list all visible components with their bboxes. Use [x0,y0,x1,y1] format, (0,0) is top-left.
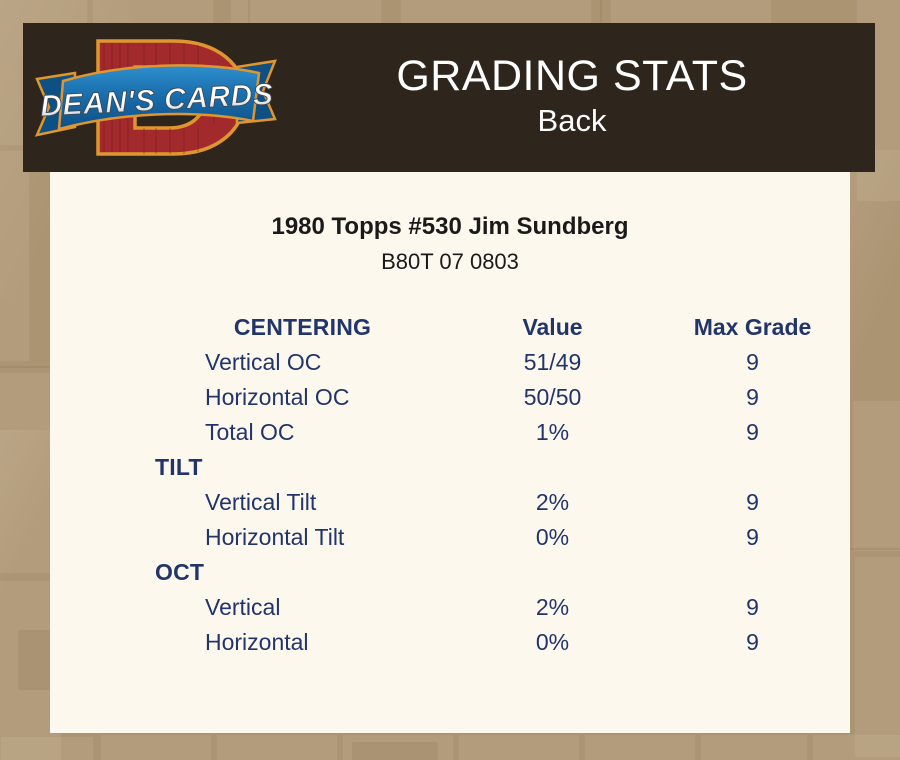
row-label: Horizontal Tilt [50,520,450,555]
table-row: Horizontal OC 50/50 9 [50,380,850,415]
section-header-tilt: TILT [50,450,450,485]
page-subtitle: Back [291,101,853,141]
deans-cards-logo-icon: DEAN'S CARDS [23,23,291,172]
content-panel: 1980 Topps #530 Jim Sundberg B80T 07 080… [50,172,850,733]
row-grade: 9 [655,625,850,660]
row-grade: 9 [655,520,850,555]
section-header-row: OCT [50,555,850,590]
section-spacer [655,555,850,590]
section-header-row: TILT [50,450,850,485]
table-row: Horizontal Tilt 0% 9 [50,520,850,555]
row-grade: 9 [655,380,850,415]
row-value: 0% [450,625,655,660]
table-row: Total OC 1% 9 [50,415,850,450]
card-title: 1980 Topps #530 Jim Sundberg [50,212,850,242]
row-value: 50/50 [450,380,655,415]
section-header-oct: OCT [50,555,450,590]
section-spacer [450,555,655,590]
header-centering: CENTERING [50,310,450,345]
table-row: Vertical OC 51/49 9 [50,345,850,380]
header-max-grade: Max Grade [655,310,850,345]
row-value: 2% [450,485,655,520]
row-grade: 9 [655,485,850,520]
table-header-row: CENTERING Value Max Grade [50,310,850,345]
table-header: CENTERING Value Max Grade [50,310,850,345]
header-value: Value [450,310,655,345]
card-code: B80T 07 0803 [50,248,850,276]
row-value: 1% [450,415,655,450]
row-label: Total OC [50,415,450,450]
page-title: GRADING STATS [291,51,853,101]
header-bar: DEAN'S CARDS GRADING STATS Back [23,23,875,172]
row-value: 2% [450,590,655,625]
row-grade: 9 [655,590,850,625]
row-grade: 9 [655,345,850,380]
header-titles: GRADING STATS Back [291,51,875,141]
row-label: Horizontal [50,625,450,660]
table-row: Vertical Tilt 2% 9 [50,485,850,520]
row-label: Horizontal OC [50,380,450,415]
grading-stats-table: CENTERING Value Max Grade Vertical OC 51… [50,310,850,660]
row-value: 0% [450,520,655,555]
row-label: Vertical OC [50,345,450,380]
deans-cards-logo: DEAN'S CARDS [23,23,291,172]
section-spacer [450,450,655,485]
section-spacer [655,450,850,485]
table-row: Vertical 2% 9 [50,590,850,625]
table-body: Vertical OC 51/49 9 Horizontal OC 50/50 … [50,345,850,660]
row-value: 51/49 [450,345,655,380]
table-row: Horizontal 0% 9 [50,625,850,660]
row-label: Vertical [50,590,450,625]
row-grade: 9 [655,415,850,450]
row-label: Vertical Tilt [50,485,450,520]
